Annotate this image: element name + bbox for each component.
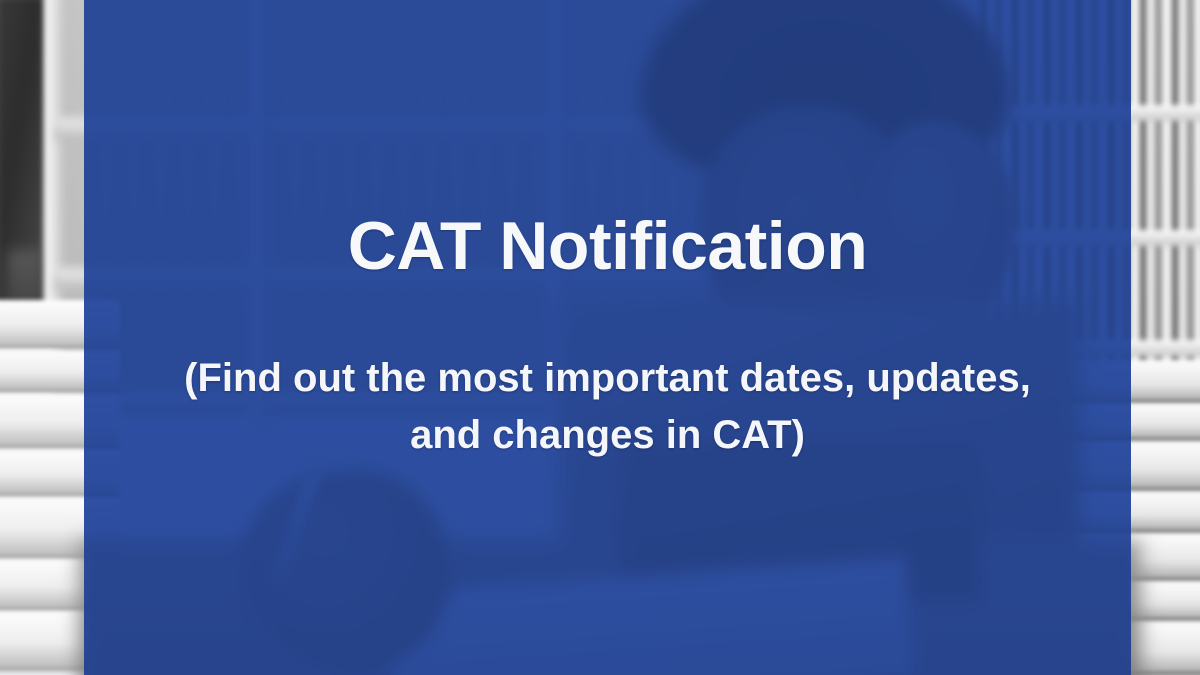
banner-text-block: CAT Notification (Find out the most impo… (84, 0, 1131, 675)
banner-title: CAT Notification (348, 211, 868, 282)
banner-subtitle: (Find out the most important dates, upda… (184, 350, 1031, 464)
banner-subtitle-line-1: (Find out the most important dates, upda… (184, 350, 1031, 407)
banner-subtitle-line-2: and changes in CAT) (184, 407, 1031, 464)
cat-notification-banner: CAT Notification (Find out the most impo… (0, 0, 1200, 675)
